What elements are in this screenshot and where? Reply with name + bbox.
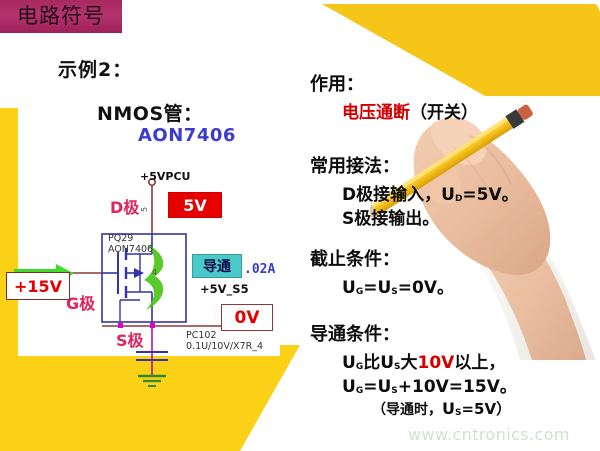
usage-line-2: S极接输出。 <box>342 204 439 229</box>
capacitor-block: PC102 0.1U/10V/X7R_4 <box>186 330 263 352</box>
current-value-label: .02A <box>244 262 275 277</box>
page-title-chip: 电路符号 <box>0 0 122 33</box>
function-value-emphasis: 电压通断 <box>342 103 410 123</box>
cond-compare-word: 比 <box>363 353 380 373</box>
device-type-label: NMOS管： <box>97 99 203 126</box>
net-label-5vpcu: +5VPCU <box>140 170 190 183</box>
example-label: 示例2： <box>58 55 132 82</box>
net-label-5v-s5: +5V_S5 <box>200 282 249 296</box>
usage-line-2-text: 极接输出。 <box>354 209 439 229</box>
drain-voltage-badge: 5V <box>168 192 222 218</box>
input-voltage-badge: +15V <box>6 272 70 300</box>
heading-usage: 常用接法： <box>310 152 400 178</box>
cond-ug-symbol: U <box>342 353 356 373</box>
usage-line-1: D极接输入，UD=5V。 <box>342 180 519 205</box>
slide-canvas: 电路符号 示例2： NMOS管： AON7406 <box>0 0 600 451</box>
heading-conduction: 导通条件： <box>310 320 400 346</box>
cutoff-equals-1: = <box>363 278 377 298</box>
conduction-line-1: UG比US大10V以上， <box>342 348 505 373</box>
usage-ud-symbol: U <box>441 185 455 205</box>
cutoff-ug-symbol: U <box>342 278 356 298</box>
cond2-us-symbol: U <box>377 377 391 397</box>
cutoff-us-symbol: U <box>377 278 391 298</box>
heading-cutoff: 截止条件： <box>310 245 400 271</box>
usage-ud-value: =5V。 <box>462 185 518 205</box>
cond2-ug-symbol: U <box>342 377 356 397</box>
usage-terminal-d: D <box>342 185 356 205</box>
terminal-label-g: G极 <box>66 290 95 314</box>
usage-line-1-text: 极接输入， <box>356 185 441 205</box>
page-title: 电路符号 <box>17 6 105 27</box>
cond-note-open: （导通时， <box>372 402 442 418</box>
conduction-note: （导通时，US=5V） <box>372 398 511 419</box>
designator-part: AON7406 <box>108 244 153 255</box>
cond-us-symbol: U <box>380 353 394 373</box>
designator-block: PQ29 AON7406 <box>108 233 153 255</box>
usage-terminal-s: S <box>342 209 354 229</box>
watermark-text: www.cntronics.com <box>408 425 570 444</box>
terminal-label-s: S极 <box>116 327 144 351</box>
heading-function: 作用： <box>310 70 364 96</box>
cond-note-us-symbol: U <box>442 399 455 418</box>
designator-ref: PQ29 <box>108 233 153 244</box>
cond2-expression: +10V=15V。 <box>398 377 517 397</box>
cond-note-value: =5V） <box>461 400 511 418</box>
function-value-rest: （开关） <box>410 103 478 123</box>
pin-number-4: 4 <box>152 268 157 277</box>
cond-line-1-tail: 以上， <box>454 353 505 373</box>
explanation-column: 作用： 电压通断（开关） 常用接法： D极接输入，UD=5V。 S极接输出。 截… <box>300 0 600 451</box>
conduction-line-2: UG=US+10V=15V。 <box>342 372 517 397</box>
terminal-label-d: D极 <box>110 194 139 218</box>
pin-number-5: 5 <box>140 207 149 212</box>
cond-greater-word: 大 <box>401 353 418 373</box>
cond-threshold-value: 10V <box>418 353 455 373</box>
capacitor-value: 0.1U/10V/X7R_4 <box>186 341 263 352</box>
capacitor-ref: PC102 <box>186 330 263 341</box>
cutoff-condition: UG=US=0V。 <box>342 273 454 298</box>
cond2-equals: = <box>363 377 377 397</box>
conduction-state-badge: 导通 <box>192 254 242 278</box>
part-number-label: AON7406 <box>138 125 236 146</box>
source-voltage-badge: 0V <box>221 304 273 331</box>
cutoff-value: =0V。 <box>398 278 454 298</box>
function-value: 电压通断（开关） <box>342 98 478 123</box>
